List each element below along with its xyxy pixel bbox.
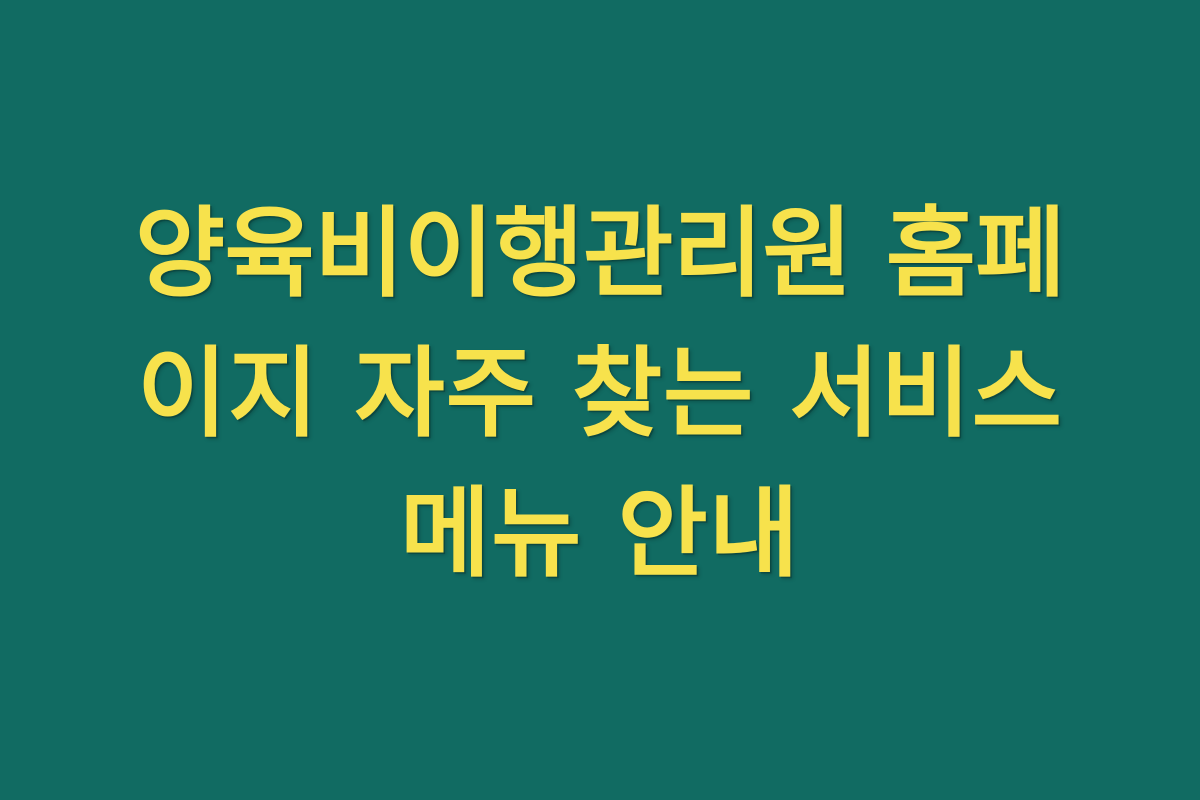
headline-line-2: 이지 자주 찾는 서비스: [65, 324, 1135, 464]
banner-canvas: 양육비이행관리원 홈페 이지 자주 찾는 서비스 메뉴 안내: [0, 0, 1200, 800]
headline-line-3: 메뉴 안내: [65, 464, 1135, 604]
headline-line-1: 양육비이행관리원 홈페: [65, 184, 1135, 324]
headline-text-block: 양육비이행관리원 홈페 이지 자주 찾는 서비스 메뉴 안내: [65, 184, 1135, 604]
